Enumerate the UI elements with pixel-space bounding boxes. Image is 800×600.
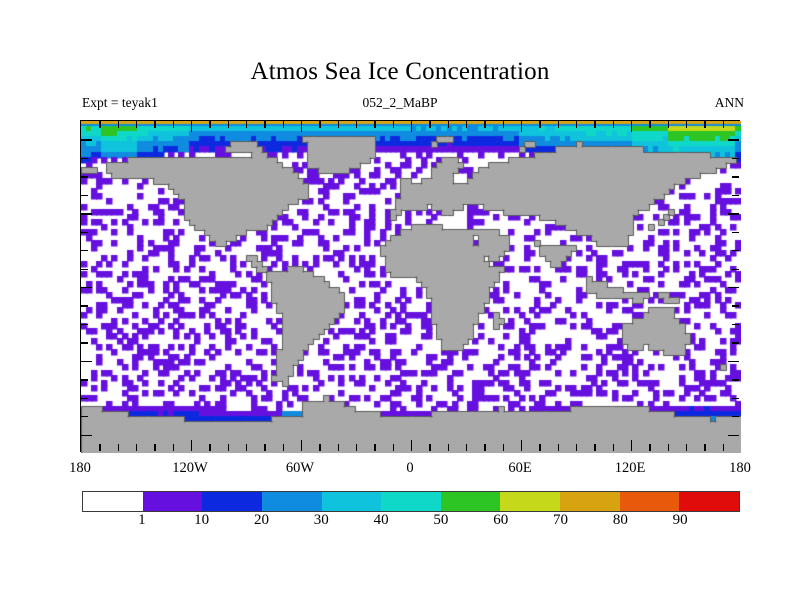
- axis-tick: [539, 444, 540, 451]
- axis-tick: [686, 121, 687, 128]
- axis-tick: [81, 232, 88, 233]
- colorbar-tick-60: 60: [493, 512, 508, 529]
- colorbar-tick-10: 10: [194, 512, 209, 529]
- axis-tick: [558, 121, 559, 128]
- axis-tick: [81, 416, 88, 417]
- axis-tick: [173, 121, 174, 128]
- axis-tick: [81, 398, 88, 399]
- axis-tick: [732, 158, 739, 159]
- axis-tick: [429, 444, 430, 451]
- axis-tick: [649, 444, 650, 451]
- axis-tick: [136, 444, 137, 451]
- axis-tick: [594, 444, 595, 451]
- axis-tick: [723, 121, 724, 128]
- axis-tick: [393, 121, 394, 128]
- sea-ice-concentration-figure: Atmos Sea Ice Concentration Expt = teyak…: [0, 0, 800, 600]
- axis-tick: [466, 121, 467, 128]
- axis-tick: [264, 121, 265, 128]
- colorbar-segment-30-40: [322, 492, 382, 511]
- axis-tick: [631, 440, 632, 451]
- world-map-canvas: [81, 121, 741, 453]
- axis-tick: [732, 398, 739, 399]
- x-axis-label-60W: 60W: [286, 460, 314, 477]
- axis-tick: [283, 121, 284, 128]
- axis-tick: [81, 324, 88, 325]
- colorbar-segment-10-20: [202, 492, 262, 511]
- axis-tick: [576, 121, 577, 128]
- axis-tick: [81, 139, 92, 140]
- axis-tick: [246, 121, 247, 128]
- colorbar-segment-40-50: [381, 492, 441, 511]
- x-axis-label-180: 180: [729, 460, 751, 477]
- axis-tick: [448, 444, 449, 451]
- axis-tick: [732, 250, 739, 251]
- axis-tick: [649, 121, 650, 128]
- axis-tick: [191, 440, 192, 451]
- axis-tick: [723, 444, 724, 451]
- colorbar-segment-50-60: [441, 492, 501, 511]
- axis-tick: [613, 444, 614, 451]
- colorbar-tick-90: 90: [673, 512, 688, 529]
- axis-tick: [191, 121, 192, 132]
- axis-tick: [228, 444, 229, 451]
- colorbar-segment-0-1: [83, 492, 143, 511]
- axis-tick: [732, 324, 739, 325]
- axis-tick: [81, 176, 88, 177]
- x-axis-label-60E: 60E: [508, 460, 531, 477]
- axis-tick: [81, 195, 88, 196]
- axis-tick: [301, 121, 302, 132]
- axis-tick: [374, 121, 375, 128]
- axis-tick: [99, 444, 100, 451]
- colorbar-segment-60-70: [500, 492, 560, 511]
- axis-tick: [732, 379, 739, 380]
- axis-tick: [686, 444, 687, 451]
- axis-tick: [411, 440, 412, 451]
- axis-tick: [81, 435, 92, 436]
- axis-tick: [301, 440, 302, 451]
- axis-tick: [732, 342, 739, 343]
- colorbar-segment-90-100: [679, 492, 739, 511]
- axis-tick: [99, 121, 100, 128]
- axis-tick: [503, 444, 504, 451]
- colorbar-tick-70: 70: [553, 512, 568, 529]
- axis-tick: [466, 444, 467, 451]
- axis-tick: [81, 250, 88, 251]
- axis-tick: [732, 195, 739, 196]
- x-axis-label-120W: 120W: [172, 460, 207, 477]
- colorbar-segment-1-10: [143, 492, 203, 511]
- axis-tick: [209, 444, 210, 451]
- axis-tick: [338, 121, 339, 128]
- axis-tick: [503, 121, 504, 128]
- axis-tick: [558, 444, 559, 451]
- axis-tick: [283, 444, 284, 451]
- colorbar-tick-40: 40: [374, 512, 389, 529]
- axis-tick: [732, 232, 739, 233]
- map-plot-area: [80, 120, 740, 452]
- axis-tick: [356, 121, 357, 128]
- colorbar-segment-70-80: [560, 492, 620, 511]
- axis-tick: [81, 305, 88, 306]
- axis-tick: [613, 121, 614, 128]
- axis-tick: [728, 139, 739, 140]
- colorbar-labels: 1102030405060708090: [82, 512, 740, 534]
- colorbar: [82, 491, 740, 512]
- axis-tick: [264, 444, 265, 451]
- axis-tick: [732, 176, 739, 177]
- axis-tick: [668, 444, 669, 451]
- axis-tick: [154, 444, 155, 451]
- axis-tick: [728, 287, 739, 288]
- colorbar-tick-80: 80: [613, 512, 628, 529]
- axis-tick: [136, 121, 137, 128]
- colorbar-tick-1: 1: [138, 512, 146, 529]
- axis-tick: [732, 305, 739, 306]
- axis-tick: [154, 121, 155, 128]
- axis-tick: [81, 379, 88, 380]
- axis-tick: [319, 444, 320, 451]
- axis-tick: [81, 158, 88, 159]
- axis-tick: [246, 444, 247, 451]
- x-axis-label-120E: 120E: [615, 460, 646, 477]
- axis-tick: [81, 213, 92, 214]
- axis-tick: [484, 444, 485, 451]
- axis-tick: [81, 361, 92, 362]
- axis-tick: [668, 121, 669, 128]
- season-label: ANN: [715, 95, 744, 111]
- colorbar-tick-20: 20: [254, 512, 269, 529]
- axis-tick: [81, 269, 88, 270]
- axis-tick: [393, 444, 394, 451]
- axis-tick: [118, 121, 119, 128]
- axis-tick: [576, 444, 577, 451]
- axis-tick: [728, 435, 739, 436]
- axis-tick: [631, 121, 632, 132]
- axis-tick: [81, 287, 92, 288]
- axis-tick: [521, 121, 522, 132]
- axis-tick: [539, 121, 540, 128]
- axis-tick: [81, 342, 88, 343]
- axis-tick: [118, 444, 119, 451]
- axis-tick: [374, 444, 375, 451]
- axis-tick: [704, 121, 705, 128]
- axis-tick: [521, 440, 522, 451]
- page-title: Atmos Sea Ice Concentration: [0, 58, 800, 86]
- axis-tick: [356, 444, 357, 451]
- case-label: 052_2_MaBP: [0, 95, 800, 111]
- x-axis-label-180: 180: [69, 460, 91, 477]
- axis-tick: [728, 361, 739, 362]
- axis-tick: [732, 416, 739, 417]
- axis-tick: [319, 121, 320, 128]
- axis-tick: [448, 121, 449, 128]
- axis-tick: [173, 444, 174, 451]
- colorbar-segment-80-90: [620, 492, 680, 511]
- axis-tick: [411, 121, 412, 132]
- colorbar-tick-30: 30: [314, 512, 329, 529]
- axis-tick: [728, 213, 739, 214]
- axis-tick: [209, 121, 210, 128]
- axis-tick: [594, 121, 595, 128]
- axis-tick: [429, 121, 430, 128]
- axis-tick: [228, 121, 229, 128]
- axis-tick: [338, 444, 339, 451]
- axis-tick: [704, 444, 705, 451]
- axis-tick: [732, 269, 739, 270]
- colorbar-segment-20-30: [262, 492, 322, 511]
- x-axis-label-0: 0: [406, 460, 413, 477]
- colorbar-tick-50: 50: [433, 512, 448, 529]
- axis-tick: [484, 121, 485, 128]
